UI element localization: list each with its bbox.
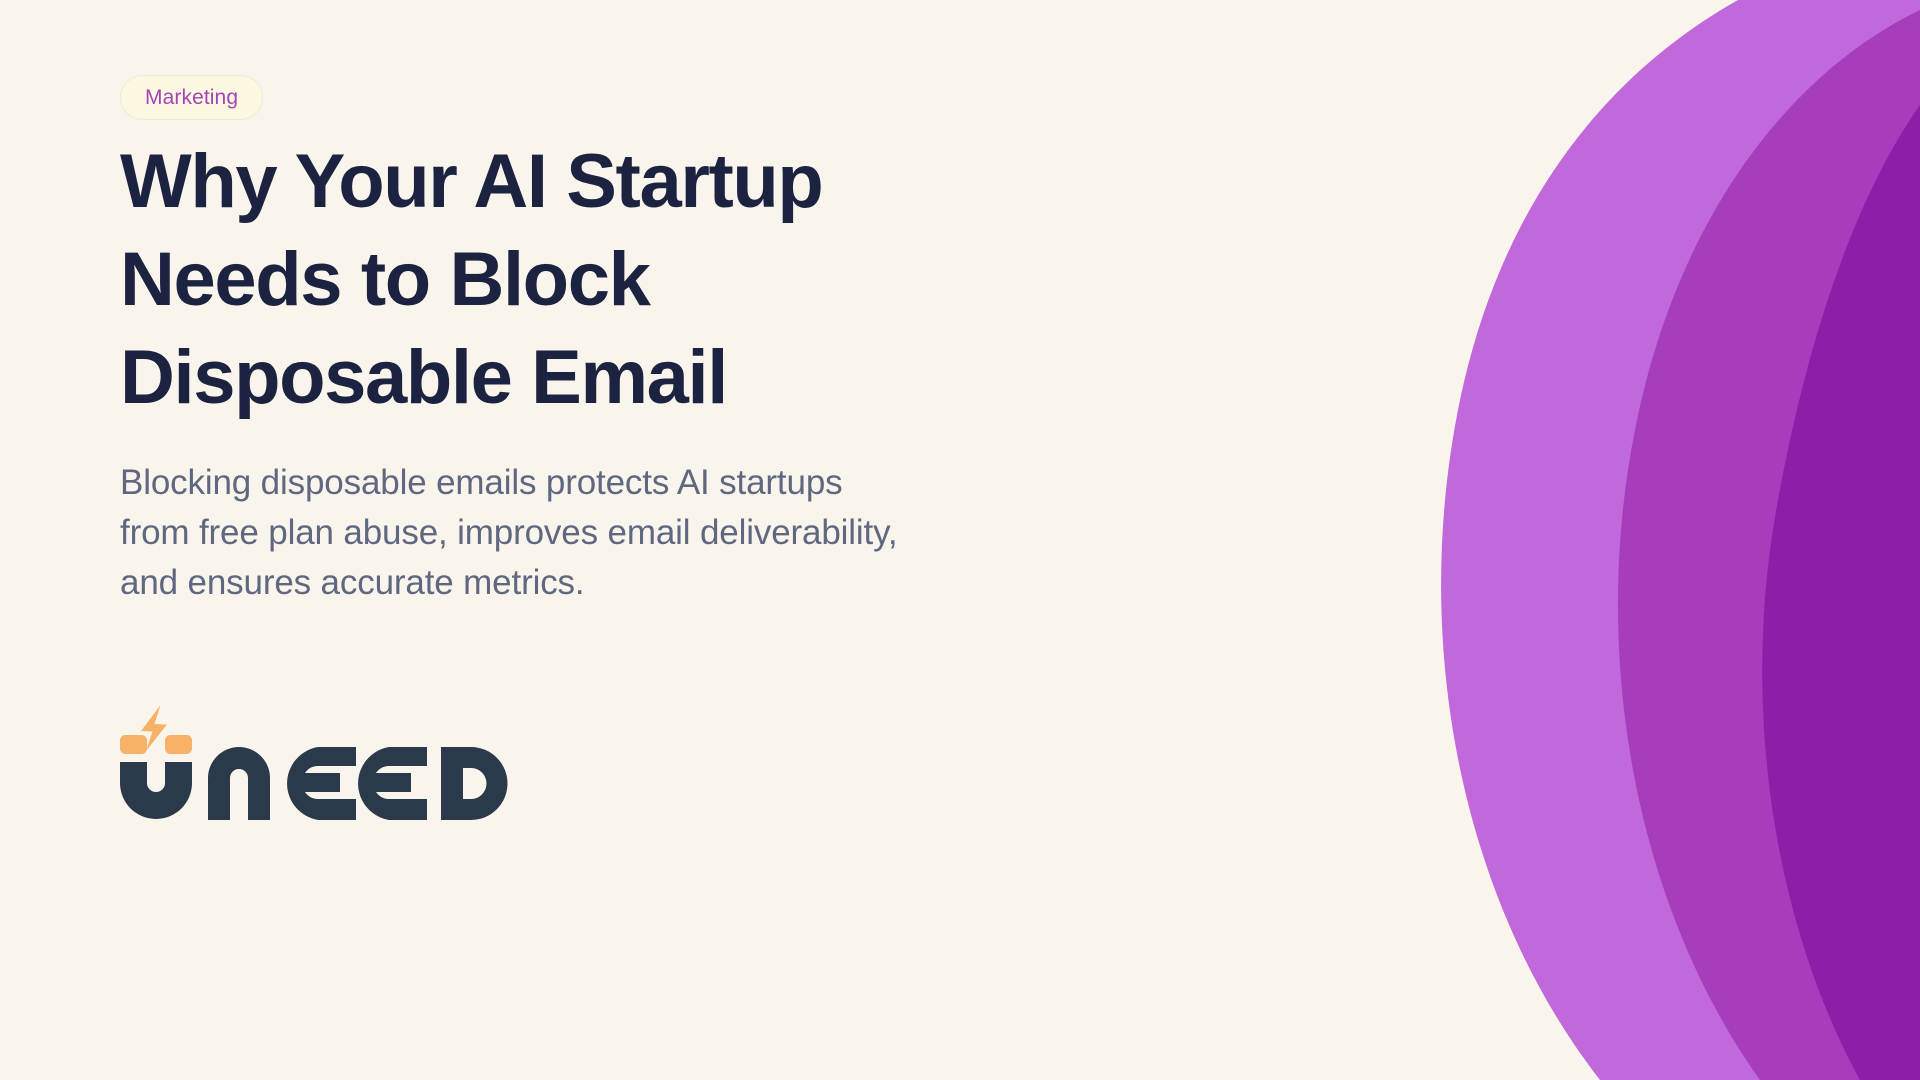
page-subtitle: Blocking disposable emails protects AI s… — [120, 458, 1130, 608]
subheadline-line-2: from free plan abuse, improves email del… — [120, 508, 1130, 558]
purple-arc-middle-shape — [1618, 10, 1920, 1080]
letter-d — [441, 747, 507, 820]
headline-line-2: Needs to Block — [120, 231, 1020, 329]
category-badge-label: Marketing — [145, 86, 238, 110]
magnet-pole-left-icon — [120, 735, 147, 754]
purple-arc-inner-shape — [1762, 105, 1920, 1080]
subheadline-line-3: and ensures accurate metrics. — [120, 558, 1130, 608]
blog-share-banner: Marketing Why Your AI Startup Needs to B… — [0, 0, 1920, 1080]
banner-content: Marketing Why Your AI Startup Needs to B… — [120, 0, 1180, 1080]
page-title: Why Your AI Startup Needs to Block Dispo… — [120, 133, 1020, 427]
letter-e-second — [358, 747, 427, 820]
magnet-pole-right-icon — [165, 735, 192, 754]
subheadline-line-1: Blocking disposable emails protects AI s… — [120, 458, 1130, 508]
purple-arc-outer-shape — [1441, 0, 1920, 1080]
category-badge[interactable]: Marketing — [120, 75, 263, 120]
concentric-purple-arcs-decoration — [1160, 0, 1920, 1080]
letter-n — [208, 747, 270, 820]
magnet-u-letter — [120, 762, 192, 819]
headline-line-1: Why Your AI Startup — [120, 133, 1020, 231]
uneed-logo[interactable] — [120, 705, 540, 820]
letter-e-first — [287, 747, 356, 820]
headline-line-3: Disposable Email — [120, 329, 1020, 427]
